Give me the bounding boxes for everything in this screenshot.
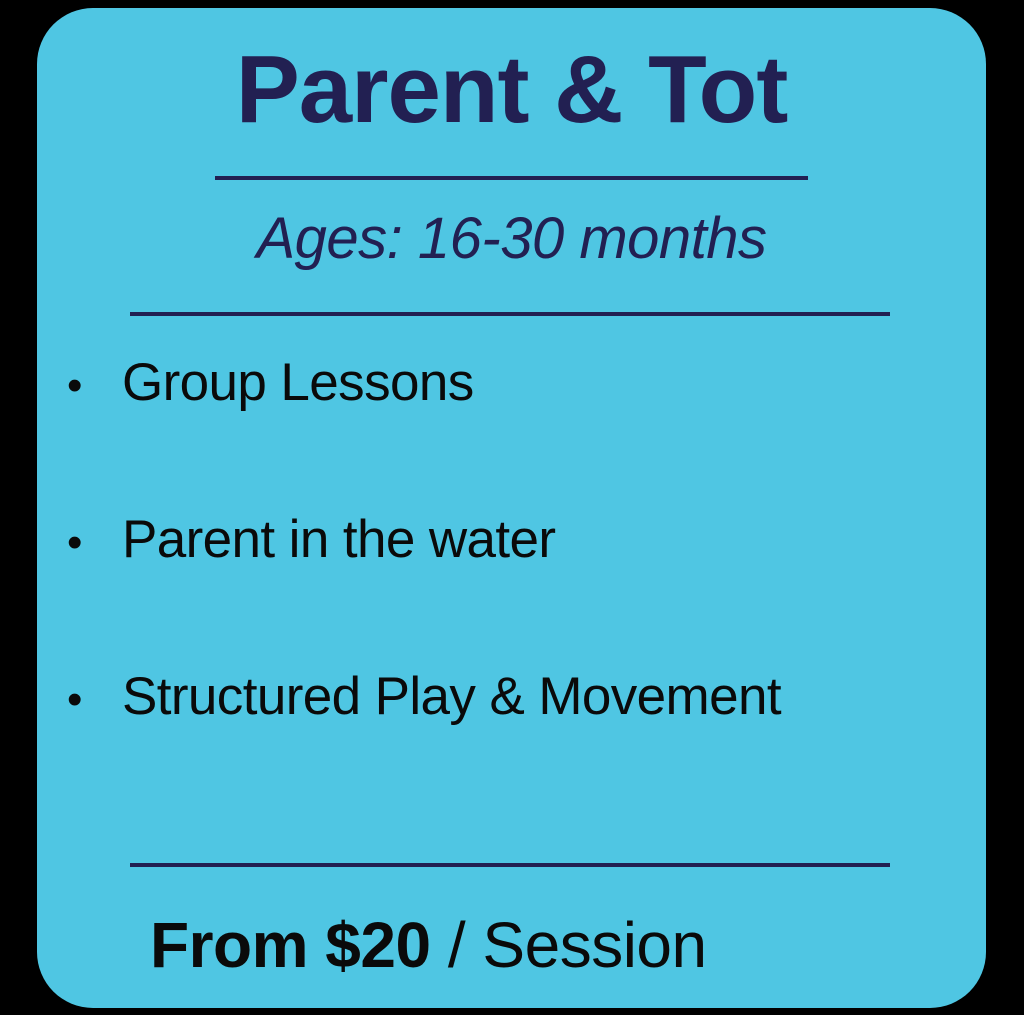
list-item-label: Structured Play & Movement: [122, 670, 986, 723]
divider-slot-top: [37, 138, 986, 180]
bullet-dot-icon: •: [67, 521, 122, 565]
age-range-subtitle: Ages: 16-30 months: [37, 180, 986, 268]
screen-root: Parent & Tot Ages: 16-30 months • Group …: [0, 0, 1024, 1015]
bullet-dot-icon: •: [67, 364, 122, 408]
page-title: Parent & Tot: [37, 8, 986, 138]
price-row: From $20 / Session: [37, 867, 986, 977]
divider-slot-bottom: [37, 827, 986, 867]
feature-list: • Group Lessons • Parent in the water • …: [37, 316, 986, 827]
list-item-label: Group Lessons: [122, 356, 986, 409]
list-item: • Parent in the water: [37, 513, 986, 670]
price-unit: / Session: [431, 909, 707, 981]
bullet-dot-icon: •: [67, 678, 122, 722]
program-card: Parent & Tot Ages: 16-30 months • Group …: [37, 8, 986, 1008]
list-item: • Structured Play & Movement: [37, 670, 986, 827]
price-amount: From $20: [150, 909, 431, 981]
list-item-label: Parent in the water: [122, 513, 986, 566]
divider-slot-middle: [37, 268, 986, 316]
list-item: • Group Lessons: [37, 356, 986, 513]
